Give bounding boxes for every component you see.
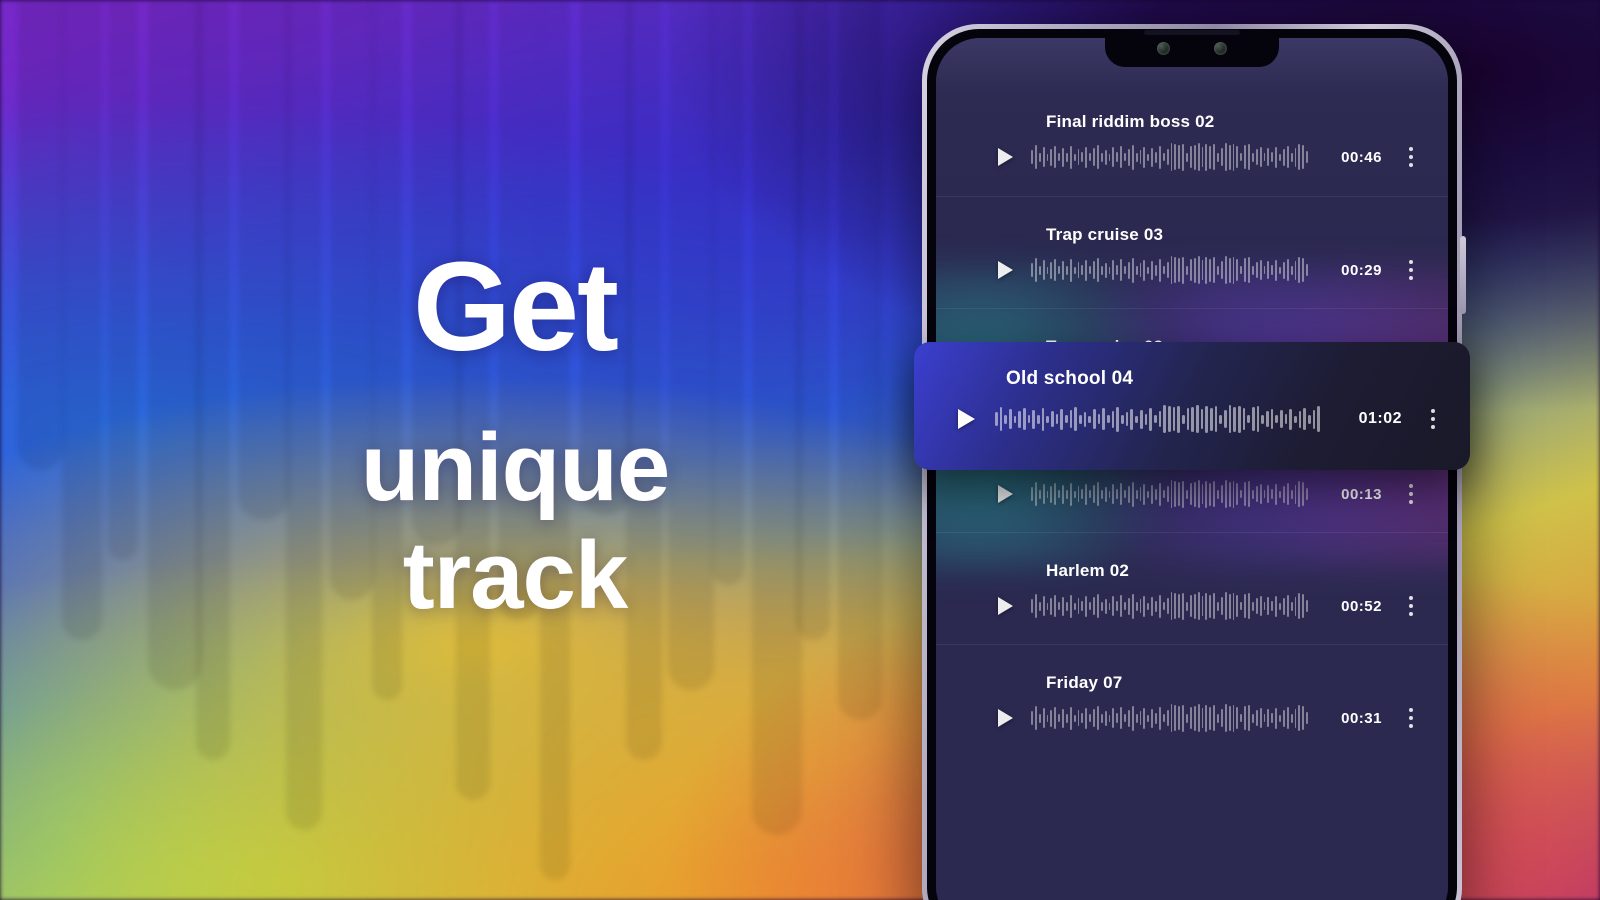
waveform-bar: [1252, 407, 1255, 431]
waveform-bar: [1186, 714, 1188, 723]
waveform-bar: [1167, 149, 1169, 165]
waveform-bar: [1298, 705, 1300, 731]
waveform-bar: [1194, 258, 1196, 283]
waveform-bar: [1081, 265, 1083, 275]
waveform-bar: [1202, 708, 1204, 728]
waveform-bar: [1298, 593, 1300, 619]
track-list-item[interactable]: Trap cruise 0300:29: [936, 196, 1448, 308]
waveform-bar: [1050, 149, 1052, 166]
waveform-bar: [1190, 259, 1192, 281]
kebab-dot: [1409, 163, 1413, 167]
waveform-bar: [1194, 594, 1196, 619]
waveform-bar: [1047, 267, 1049, 274]
waveform-bar: [1136, 714, 1138, 723]
waveform-bar: [1275, 147, 1277, 168]
waveform-bar: [1089, 490, 1091, 498]
waveform-bar: [1149, 408, 1152, 431]
waveform-bar: [1186, 602, 1188, 611]
waveform-bar: [1037, 415, 1040, 424]
waveform-bar: [1124, 490, 1126, 498]
kebab-menu-icon[interactable]: [1422, 409, 1444, 429]
waveform-bar: [1054, 595, 1056, 617]
waveform-bar: [1187, 408, 1190, 430]
waveform-bar: [1126, 412, 1129, 426]
waveform-bar: [1302, 594, 1304, 618]
waveform-bar: [1042, 408, 1045, 431]
waveform-bar: [1097, 594, 1099, 618]
waveform-bar: [1283, 486, 1285, 503]
waveform-bar: [1120, 259, 1122, 281]
waveform-bar: [1047, 154, 1049, 161]
waveform-bar: [1039, 266, 1041, 275]
waveform-bar: [1109, 154, 1111, 161]
headline-line-2: unique: [300, 414, 730, 522]
waveform-bar: [1032, 410, 1035, 429]
play-icon[interactable]: [998, 485, 1013, 503]
waveform-bar: [1151, 261, 1153, 280]
waveform-bar: [1306, 600, 1308, 612]
waveform-bar: [1093, 597, 1095, 615]
kebab-dot: [1431, 417, 1435, 421]
equalizer-bar: [838, 0, 882, 720]
waveform-bar: [1209, 259, 1211, 282]
waveform-bar: [1252, 490, 1254, 499]
waveform-bar: [1178, 482, 1180, 506]
waveform-bar: [1287, 483, 1289, 505]
waveform-bar: [1163, 714, 1165, 722]
waveform-bar: [1085, 596, 1087, 617]
waveform-bar: [1124, 714, 1126, 722]
waveform-bar: [1031, 150, 1033, 164]
waveform-bar: [1267, 485, 1269, 503]
earpiece-speaker-icon: [1144, 30, 1240, 35]
waveform-bar: [1039, 490, 1041, 499]
waveform-bar: [1233, 407, 1236, 432]
waveform-bar: [1174, 705, 1176, 731]
waveform-bar: [1128, 710, 1130, 727]
play-icon[interactable]: [998, 148, 1013, 166]
waveform-bar: [1089, 153, 1091, 161]
track-controls: 00:29: [998, 255, 1422, 285]
waveform-bar: [1224, 410, 1227, 428]
waveform-bar: [1267, 709, 1269, 727]
kebab-dot: [1409, 500, 1413, 504]
waveform-bar: [1264, 490, 1266, 498]
kebab-menu-icon[interactable]: [1400, 596, 1422, 616]
waveform-bar: [1225, 256, 1227, 284]
track-duration: 00:31: [1326, 710, 1382, 727]
waveform-bar: [1151, 597, 1153, 616]
waveform-bar: [1151, 148, 1153, 167]
waveform-bar: [1174, 481, 1176, 507]
waveform-bar: [1221, 261, 1223, 279]
waveform-bar: [1035, 145, 1037, 169]
waveform-bar: [1047, 603, 1049, 610]
waveform-bar: [1275, 260, 1277, 281]
waveform-bar: [1306, 151, 1308, 163]
waveform-bar: [1256, 710, 1258, 726]
waveform-bar: [1285, 414, 1288, 424]
waveform-bar: [1135, 416, 1138, 423]
waveform-bar: [1031, 263, 1033, 277]
waveform-bar: [1298, 144, 1300, 170]
waveform-bar: [1219, 415, 1222, 424]
waveform-bar: [1132, 594, 1134, 619]
waveform-bar: [1205, 481, 1207, 508]
waveform-bar: [1084, 412, 1087, 427]
play-icon[interactable]: [998, 597, 1013, 615]
waveform-bar: [1229, 482, 1231, 507]
play-icon[interactable]: [998, 261, 1013, 279]
track-list-item[interactable]: Final riddim boss 0200:46: [936, 84, 1448, 196]
waveform-bar: [1018, 411, 1021, 428]
waveform-bar: [1105, 599, 1107, 614]
headline: Get unique track: [300, 244, 730, 629]
waveform-bar: [1191, 407, 1194, 432]
waveform-bar: [1147, 491, 1149, 498]
waveform-bar: [1198, 480, 1200, 508]
track-duration: 01:02: [1340, 410, 1402, 428]
waveform-bar: [1256, 598, 1258, 614]
waveform-bar: [1264, 266, 1266, 274]
play-icon[interactable]: [998, 709, 1013, 727]
waveform-bar: [1266, 411, 1269, 427]
waveform-bar: [1279, 267, 1281, 274]
headline-line-3: track: [300, 522, 730, 630]
waveform-bar: [1279, 715, 1281, 722]
waveform-bar: [1283, 149, 1285, 166]
waveform-bar: [1202, 260, 1204, 280]
waveform-bar: [1093, 261, 1095, 279]
waveform-bar: [1035, 258, 1037, 282]
waveform-bar: [1066, 490, 1068, 499]
waveform-bar: [1196, 405, 1199, 433]
waveform-bar: [1159, 411, 1162, 427]
waveform-bar: [1186, 266, 1188, 275]
waveform-bar: [1062, 709, 1064, 728]
waveform-bar: [1240, 714, 1242, 722]
equalizer-bar: [18, 0, 64, 470]
waveform-bar: [1101, 153, 1103, 162]
waveform-bar: [1159, 146, 1161, 169]
waveform-bar: [1202, 147, 1204, 167]
waveform-bar: [1101, 266, 1103, 275]
waveform-bar: [1198, 256, 1200, 284]
waveform-bar: [1132, 258, 1134, 283]
waveform-bar: [1070, 146, 1072, 169]
waveform-bar: [1252, 714, 1254, 723]
waveform-bar: [1163, 490, 1165, 498]
headline-line-1: Get: [300, 244, 730, 370]
waveform-bar: [1240, 153, 1242, 161]
kebab-dot: [1409, 604, 1413, 608]
waveform-bar: [1043, 708, 1045, 728]
waveform-bar: [1167, 262, 1169, 278]
waveform-bar: [1105, 711, 1107, 726]
waveform-bar: [1243, 408, 1246, 430]
waveform-bar: [1128, 149, 1130, 166]
waveform[interactable]: [1031, 142, 1308, 172]
waveform-bar: [1298, 257, 1300, 283]
waveform-bar: [1205, 593, 1207, 620]
waveform-bar: [1145, 414, 1148, 425]
waveform-bar: [1244, 706, 1246, 730]
waveform-bar: [1143, 708, 1145, 729]
waveform-bar: [1313, 410, 1316, 429]
waveform-bar: [1147, 154, 1149, 161]
kebab-menu-icon[interactable]: [1400, 147, 1422, 167]
waveform-bar: [1267, 261, 1269, 279]
waveform-bar: [1217, 714, 1219, 723]
waveform-bar: [1205, 257, 1207, 284]
waveform-bar: [1143, 147, 1145, 168]
waveform-bar: [1070, 483, 1072, 506]
waveform-bar: [1244, 145, 1246, 169]
waveform-bar: [1155, 265, 1157, 276]
equalizer-bar: [238, 0, 290, 520]
waveform-bar: [1109, 267, 1111, 274]
waveform-bar: [1105, 150, 1107, 165]
waveform-bar: [1244, 482, 1246, 506]
waveform-bar: [1128, 598, 1130, 615]
waveform-bar: [1093, 709, 1095, 727]
waveform-bar: [1070, 259, 1072, 282]
waveform-bar: [1120, 483, 1122, 505]
waveform-bar: [1107, 415, 1110, 423]
waveform-bar: [1047, 491, 1049, 498]
waveform-bar: [1143, 260, 1145, 281]
waveform-bar: [1116, 713, 1118, 723]
waveform-bar: [1271, 152, 1273, 162]
waveform-bar: [995, 412, 998, 426]
waveform-bar: [1066, 266, 1068, 275]
track-duration: 00:13: [1326, 486, 1382, 503]
waveform-bar: [1078, 262, 1080, 278]
power-button[interactable]: [1460, 236, 1466, 314]
waveform-bar: [1279, 603, 1281, 610]
waveform-bar: [1186, 490, 1188, 499]
camera-dot-icon: [1157, 42, 1170, 55]
waveform-bar: [1303, 408, 1306, 430]
waveform-bar: [1079, 415, 1082, 424]
waveform-bar: [1260, 260, 1262, 280]
waveform-bar: [1085, 708, 1087, 729]
phone-mockup: Final riddim boss 0200:46Trap cruise 030…: [922, 24, 1462, 900]
waveform-bar: [1035, 482, 1037, 506]
waveform-bar: [1097, 706, 1099, 730]
kebab-menu-icon[interactable]: [1400, 708, 1422, 728]
waveform-bar: [1050, 710, 1052, 727]
kebab-menu-icon[interactable]: [1400, 260, 1422, 280]
waveform-bar: [1178, 145, 1180, 169]
waveform-bar: [1194, 145, 1196, 170]
waveform-bar: [1247, 415, 1250, 423]
waveform-bar: [1089, 714, 1091, 722]
waveform-bar: [1299, 411, 1302, 428]
waveform-bar: [1081, 152, 1083, 162]
waveform-bar: [1054, 707, 1056, 729]
waveform-bar: [1257, 406, 1260, 432]
waveform-bar: [1252, 153, 1254, 162]
kebab-dot: [1409, 708, 1413, 712]
waveform-bar: [1213, 705, 1215, 731]
waveform-bar: [1031, 711, 1033, 725]
waveform-bar: [1159, 595, 1161, 618]
kebab-menu-icon[interactable]: [1400, 484, 1422, 504]
waveform-bar: [1054, 259, 1056, 281]
waveform-bar: [1295, 148, 1297, 167]
track-list-item[interactable]: Harlem 0200:52: [936, 532, 1448, 644]
waveform-bar: [1097, 258, 1099, 282]
waveform-bar: [1031, 599, 1033, 613]
waveform-bar: [1233, 705, 1235, 732]
waveform-bar: [1287, 707, 1289, 729]
waveform-bar: [1302, 258, 1304, 282]
waveform-bar: [1074, 603, 1076, 610]
waveform-bar: [1155, 489, 1157, 500]
waveform-bar: [1233, 144, 1235, 171]
waveform-bar: [1178, 706, 1180, 730]
waveform-bar: [1229, 405, 1232, 433]
waveform-bar: [1159, 707, 1161, 730]
waveform-bar: [1205, 705, 1207, 732]
waveform-bar: [1116, 265, 1118, 275]
waveform[interactable]: [1031, 479, 1308, 509]
active-track-card[interactable]: Old school 0401:02: [914, 342, 1470, 470]
equalizer-bar: [196, 0, 230, 760]
waveform-bar: [1078, 486, 1080, 502]
waveform-bar: [1140, 150, 1142, 164]
waveform-bar: [1248, 593, 1250, 619]
waveform-bar: [1271, 409, 1274, 429]
waveform-bar: [1221, 485, 1223, 503]
waveform[interactable]: [1031, 255, 1308, 285]
waveform-bar: [1102, 408, 1105, 430]
waveform-bar: [1120, 146, 1122, 168]
waveform-bar: [1264, 714, 1266, 722]
waveform-bar: [1279, 154, 1281, 161]
waveform-bar: [1128, 262, 1130, 279]
waveform-bar: [1248, 144, 1250, 170]
waveform-bar: [1039, 714, 1041, 723]
track-controls: 00:13: [998, 479, 1422, 509]
waveform-bar: [1236, 483, 1238, 505]
waveform-bar: [1140, 711, 1142, 725]
waveform-bar: [1167, 486, 1169, 502]
waveform-bar: [1213, 257, 1215, 283]
waveform-bar: [1198, 143, 1200, 171]
kebab-dot: [1409, 260, 1413, 264]
kebab-dot: [1409, 484, 1413, 488]
waveform-bar: [1213, 481, 1215, 507]
waveform-bar: [1190, 146, 1192, 168]
waveform-bar: [1280, 410, 1283, 428]
waveform-bar: [1221, 597, 1223, 615]
waveform-bar: [1143, 596, 1145, 617]
waveform-bar: [1151, 709, 1153, 728]
equalizer-bar: [148, 0, 202, 690]
waveform-bar: [1291, 266, 1293, 275]
waveform-bar: [1225, 480, 1227, 508]
waveform[interactable]: [995, 404, 1320, 434]
waveform-bar: [1289, 409, 1292, 430]
waveform-bar: [1291, 490, 1293, 499]
waveform-bar: [1085, 260, 1087, 281]
equalizer-bar: [62, 0, 102, 640]
waveform-bar: [1058, 490, 1060, 498]
waveform-bar: [1267, 597, 1269, 615]
equalizer-bar: [796, 0, 830, 640]
waveform-bar: [1116, 152, 1118, 162]
waveform-bar: [1140, 410, 1143, 429]
waveform[interactable]: [1031, 591, 1308, 621]
waveform-bar: [1147, 715, 1149, 722]
waveform-bar: [1066, 602, 1068, 611]
waveform-bar: [1056, 414, 1059, 424]
waveform-bar: [1168, 406, 1171, 432]
waveform-bar: [1155, 713, 1157, 724]
waveform-bar: [1182, 481, 1184, 508]
track-list-item[interactable]: Friday 0700:31: [936, 644, 1448, 756]
waveform-bar: [1128, 486, 1130, 503]
waveform-bar: [1028, 415, 1031, 423]
waveform-bar: [1275, 484, 1277, 505]
waveform-bar: [1229, 594, 1231, 619]
waveform-bar: [1046, 416, 1049, 423]
waveform-bar: [1081, 713, 1083, 723]
waveform-bar: [1306, 712, 1308, 724]
waveform-bar: [1271, 489, 1273, 499]
waveform-bar: [1140, 263, 1142, 277]
track-title: Final riddim boss 02: [1046, 112, 1214, 132]
waveform-bar: [1182, 144, 1184, 171]
waveform-bar: [1194, 482, 1196, 507]
waveform-bar: [1085, 484, 1087, 505]
waveform-bar: [1171, 704, 1173, 732]
waveform-bar: [1252, 602, 1254, 611]
waveform-bar: [1260, 708, 1262, 728]
waveform-bar: [1209, 595, 1211, 618]
waveform-bar: [1302, 706, 1304, 730]
waveform-bar: [1116, 601, 1118, 611]
waveform-bar: [1062, 261, 1064, 280]
waveform-bar: [1078, 598, 1080, 614]
waveform-bar: [1173, 407, 1176, 431]
track-title: Friday 07: [1046, 673, 1122, 693]
waveform-bar: [1248, 705, 1250, 731]
track-controls: 00:52: [998, 591, 1422, 621]
waveform-bar: [1271, 713, 1273, 723]
waveform-bar: [1132, 482, 1134, 507]
waveform-bar: [1171, 480, 1173, 508]
waveform-bar: [1252, 266, 1254, 275]
waveform-bar: [1009, 409, 1012, 429]
waveform-bar: [1116, 489, 1118, 499]
play-icon[interactable]: [958, 409, 975, 429]
waveform-bar: [1190, 595, 1192, 617]
waveform[interactable]: [1031, 703, 1308, 733]
waveform-bar: [1081, 489, 1083, 499]
waveform-bar: [1140, 599, 1142, 613]
waveform-bar: [1101, 714, 1103, 723]
kebab-dot: [1409, 268, 1413, 272]
waveform-bar: [1043, 484, 1045, 504]
waveform-bar: [1163, 153, 1165, 161]
waveform-bar: [1112, 147, 1114, 167]
waveform-bar: [1256, 486, 1258, 502]
waveform-bar: [1136, 490, 1138, 499]
waveform-bar: [1074, 491, 1076, 498]
